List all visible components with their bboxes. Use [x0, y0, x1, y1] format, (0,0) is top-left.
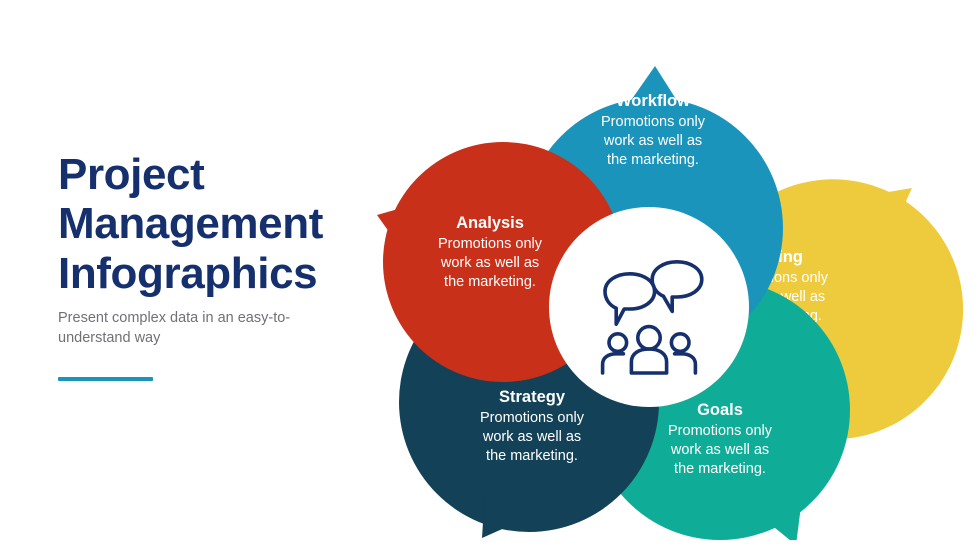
- petal-label-workflow: Workflow: [616, 92, 690, 110]
- petal-body-line-1-analysis: Promotions only: [438, 236, 543, 252]
- slide-canvas: Project Management Infographics Present …: [0, 0, 980, 551]
- petal-body-line-1-strategy: Promotions only: [480, 410, 585, 426]
- center-circle: [549, 207, 749, 407]
- page-title: Project Management Infographics: [58, 150, 358, 298]
- petal-body-line-3-workflow: the marketing.: [607, 152, 699, 168]
- page-subtitle: Present complex data in an easy-to-under…: [58, 308, 308, 349]
- petal-label-strategy: Strategy: [499, 388, 566, 406]
- petal-body-line-2-goals: work as well as: [670, 442, 769, 458]
- petal-body-line-2-analysis: work as well as: [440, 255, 539, 271]
- petal-body-line-3-goals: the marketing.: [674, 461, 766, 477]
- left-text-panel: Project Management Infographics Present …: [58, 150, 358, 381]
- accent-rule: [58, 377, 153, 381]
- circular-infographic: Timing Promotions only work as well as t…: [372, 10, 972, 540]
- petal-body-line-2-workflow: work as well as: [603, 133, 702, 149]
- petal-body-line-2-strategy: work as well as: [482, 429, 581, 445]
- petal-label-analysis: Analysis: [456, 214, 524, 232]
- petal-label-goals: Goals: [697, 401, 743, 419]
- petal-diagram-svg: Timing Promotions only work as well as t…: [372, 10, 972, 540]
- petal-body-line-1-workflow: Promotions only: [601, 114, 706, 130]
- petal-body-line-1-goals: Promotions only: [668, 423, 773, 439]
- petal-body-line-3-analysis: the marketing.: [444, 274, 536, 290]
- petal-body-line-3-strategy: the marketing.: [486, 448, 578, 464]
